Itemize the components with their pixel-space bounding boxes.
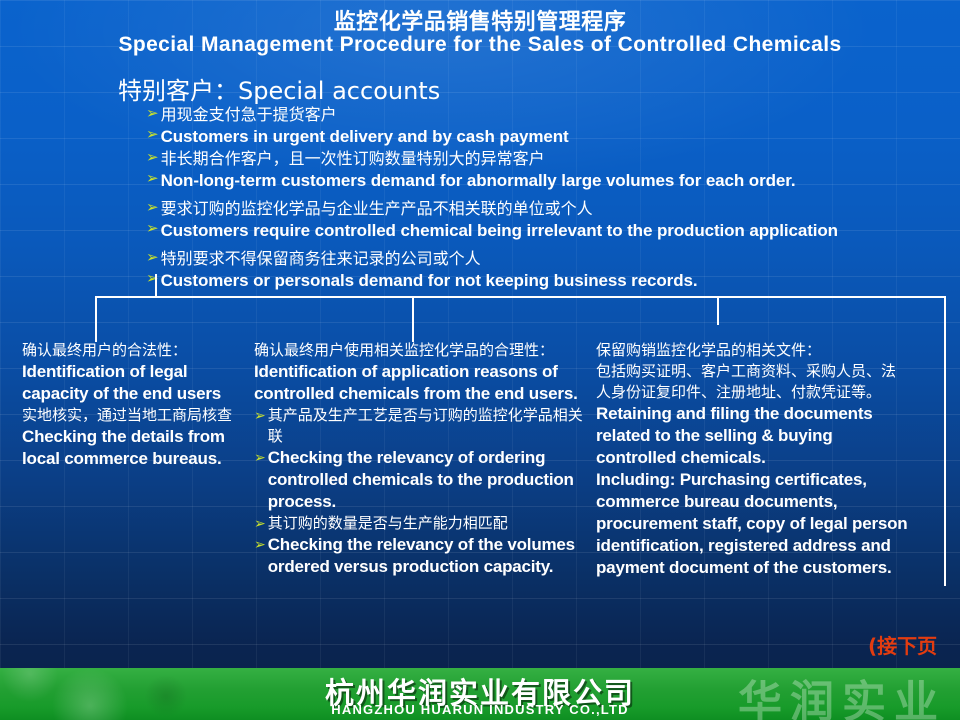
column-bullet-item: ➢Checking the relevancy of ordering cont… (254, 447, 584, 513)
column-paragraph: Identification of legal capacity of the … (22, 361, 237, 405)
company-name-en: HANGZHOU HUARUN INDUSTRY CO.,LTD (0, 702, 960, 717)
bullet-arrow-icon: ➢ (146, 171, 159, 186)
section-subtitle: 特别客户：Special accounts (118, 71, 440, 106)
bullet-text: Customers require controlled chemical be… (161, 219, 838, 242)
bullet-arrow-icon: ➢ (146, 250, 159, 265)
bullet-text: Customers in urgent delivery and by cash… (161, 125, 569, 148)
column-bullet-item: ➢Checking the relevancy of the volumes o… (254, 534, 584, 578)
slide-canvas: 监控化学品销售特别管理程序 Special Management Procedu… (0, 0, 960, 720)
bullet-arrow-icon: ➢ (254, 450, 266, 464)
bullet-arrow-icon: ➢ (254, 408, 266, 422)
connector-drop-right-edge (944, 296, 946, 586)
bullet-arrow-icon: ➢ (146, 150, 159, 165)
connector-drop-column-1 (95, 296, 97, 342)
column-bullet-item: ➢其产品及生产工艺是否与订购的监控化学品相关联 (254, 405, 584, 447)
connector-drop-column-3 (717, 296, 719, 325)
page-title-cn: 监控化学品销售特别管理程序 (0, 4, 960, 36)
bullet-item: ➢Customers or personals demand for not k… (146, 269, 958, 292)
bullet-text: Non-long-term customers demand for abnor… (161, 169, 796, 192)
bullet-item: ➢Customers in urgent delivery and by cas… (146, 125, 958, 148)
bullet-text: 特别要求不得保留商务往来记录的公司或个人 (161, 248, 481, 269)
connector-drop-column-2 (412, 296, 414, 342)
connector-horizontal-bar (95, 296, 946, 298)
column-bullet-text: Checking the relevancy of the volumes or… (268, 534, 584, 578)
bullet-arrow-icon: ➢ (146, 200, 159, 215)
bullet-arrow-icon: ➢ (146, 106, 159, 121)
bullet-item: ➢Customers require controlled chemical b… (146, 219, 958, 242)
page-title-en: Special Management Procedure for the Sal… (0, 33, 960, 57)
column-paragraph: Checking the details from local commerce… (22, 426, 237, 470)
connector-stub-top (155, 274, 157, 297)
column-paragraph: Retaining and filing the documents relat… (596, 403, 908, 469)
column-bullet-text: 其订购的数量是否与生产能力相匹配 (268, 513, 508, 534)
column-bullet-text: 其产品及生产工艺是否与订购的监控化学品相关联 (268, 405, 584, 447)
column-paragraph: Including: Purchasing certificates, comm… (596, 469, 908, 579)
bullet-item: ➢非长期合作客户，且一次性订购数量特别大的异常客户 (146, 148, 958, 169)
bullet-text: Customers or personals demand for not ke… (161, 269, 698, 292)
column-paragraph: 实地核实，通过当地工商局核查 (22, 405, 237, 426)
column-bullet-text: Checking the relevancy of ordering contr… (268, 447, 584, 513)
column-paragraph: 确认最终用户使用相关监控化学品的合理性： (254, 340, 584, 361)
bullet-text: 用现金支付急于提货客户 (161, 104, 337, 125)
bullet-arrow-icon: ➢ (254, 516, 266, 530)
bullet-arrow-icon: ➢ (146, 127, 159, 142)
column-paragraph: 确认最终用户的合法性： (22, 340, 237, 361)
column-identification-of-application-reasons: 确认最终用户使用相关监控化学品的合理性：Identification of ap… (254, 340, 584, 578)
column-retaining-and-filing-documents: 保留购销监控化学品的相关文件：包括购买证明、客户工商资料、采购人员、法人身份证复… (596, 340, 908, 579)
bullet-arrow-icon: ➢ (254, 537, 266, 551)
bullet-item: ➢特别要求不得保留商务往来记录的公司或个人 (146, 248, 958, 269)
bullet-item: ➢Non-long-term customers demand for abno… (146, 169, 958, 192)
column-paragraph: 保留购销监控化学品的相关文件： (596, 340, 908, 361)
column-paragraph: Identification of application reasons of… (254, 361, 584, 405)
special-accounts-bullet-list: ➢用现金支付急于提货客户➢Customers in urgent deliver… (146, 104, 958, 292)
bullet-item: ➢用现金支付急于提货客户 (146, 104, 958, 125)
bullet-arrow-icon: ➢ (146, 221, 159, 236)
company-banner: 华润实业 杭州华润实业有限公司 HANGZHOU HUARUN INDUSTRY… (0, 668, 960, 720)
bullet-text: 非长期合作客户，且一次性订购数量特别大的异常客户 (161, 148, 545, 169)
bullet-item: ➢要求订购的监控化学品与企业生产产品不相关联的单位或个人 (146, 198, 958, 219)
continuation-note: (接下页 (868, 630, 937, 659)
column-identification-of-legal-capacity: 确认最终用户的合法性：Identification of legal capac… (22, 340, 237, 470)
column-bullet-item: ➢其订购的数量是否与生产能力相匹配 (254, 513, 584, 534)
bullet-text: 要求订购的监控化学品与企业生产产品不相关联的单位或个人 (161, 198, 593, 219)
column-paragraph: 包括购买证明、客户工商资料、采购人员、法人身份证复印件、注册地址、付款凭证等。 (596, 361, 908, 403)
